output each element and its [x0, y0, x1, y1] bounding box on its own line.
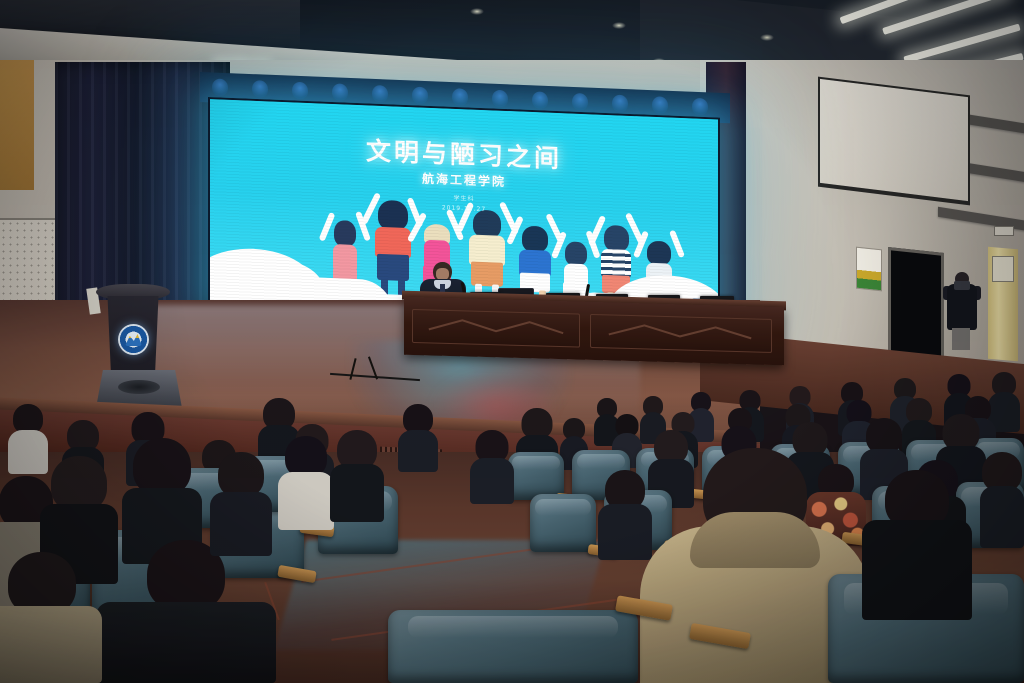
wall-poster — [856, 247, 882, 292]
audience-member — [470, 430, 514, 504]
photographer-legs — [952, 328, 970, 350]
side-exit-doorway[interactable] — [888, 247, 944, 361]
audience-member — [278, 436, 334, 530]
standing-photographer — [944, 272, 980, 350]
camera-phone-icon — [954, 281, 970, 290]
auditorium-photo: 文明与陋习之间 航海工程学院 学生科 2019.12.27 ⌂ — [0, 0, 1024, 683]
audience-member — [210, 452, 272, 556]
photographer-body — [947, 284, 977, 330]
head-table — [404, 297, 784, 366]
audience-member-foreground — [96, 540, 276, 683]
column-sign — [992, 256, 1014, 282]
table-chevron-motif — [413, 316, 579, 337]
ceiling-downlight — [612, 22, 626, 29]
audience-member — [330, 430, 384, 522]
auditorium-seat[interactable] — [530, 494, 596, 552]
audience-member-foreground — [0, 552, 102, 683]
auditorium-seat[interactable] — [508, 452, 564, 500]
audience-member — [980, 452, 1024, 548]
rolled-projection-screen — [818, 77, 970, 206]
table-front-panel — [590, 314, 772, 353]
table-front-panel — [412, 309, 580, 348]
ceiling-downlight — [760, 34, 774, 41]
left-wall-warm-panel — [0, 60, 34, 190]
table-chevron-motif — [591, 321, 771, 342]
ceiling-downlight — [470, 8, 484, 15]
audience-member — [862, 470, 972, 620]
auditorium-seat[interactable] — [388, 610, 638, 683]
university-crest-emblem — [118, 324, 149, 355]
audience-member — [398, 404, 438, 472]
hoodie-hood — [690, 512, 820, 568]
exit-sign — [994, 226, 1014, 236]
